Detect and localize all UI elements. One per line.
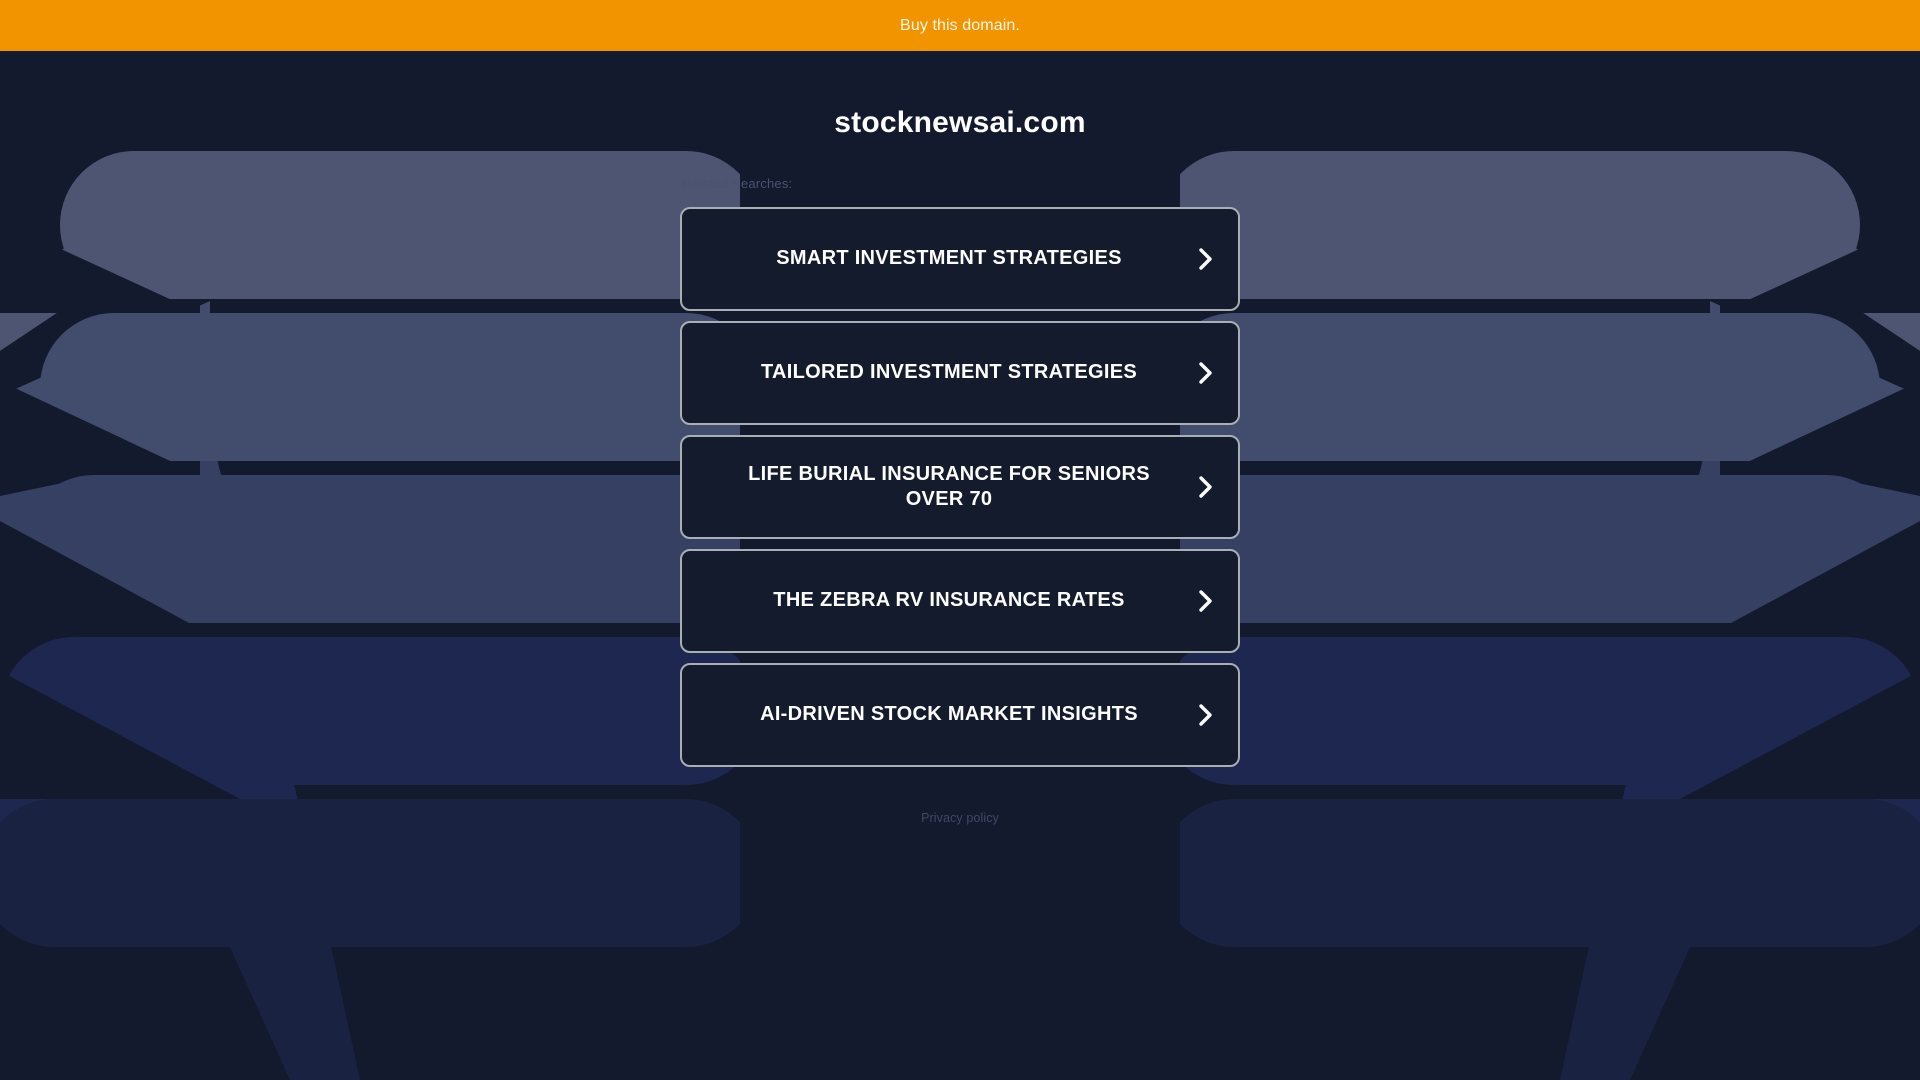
main-content: stocknewsai.com Related Searches: SMART … <box>610 51 1310 825</box>
related-searches-list: SMART INVESTMENT STRATEGIES TAILORED INV… <box>680 207 1240 767</box>
buy-domain-banner[interactable]: Buy this domain. <box>0 0 1920 51</box>
related-search-item-2[interactable]: TAILORED INVESTMENT STRATEGIES <box>680 321 1240 425</box>
related-search-label-4: THE ZEBRA RV INSURANCE RATES <box>773 588 1124 612</box>
buy-domain-banner-label: Buy this domain. <box>900 18 1020 34</box>
related-search-label-2: TAILORED INVESTMENT STRATEGIES <box>761 360 1137 384</box>
related-search-item-5[interactable]: AI-DRIVEN STOCK MARKET INSIGHTS <box>680 663 1240 767</box>
related-searches-label: Related Searches: <box>680 176 1240 191</box>
privacy-policy-link[interactable]: Privacy policy <box>921 811 999 825</box>
related-search-item-4[interactable]: THE ZEBRA RV INSURANCE RATES <box>680 549 1240 653</box>
fan-rays-right <box>1560 151 1920 1080</box>
chevron-right-icon <box>1196 475 1216 499</box>
page-root: Buy this domain. <box>0 0 1920 1080</box>
chevron-right-icon <box>1196 703 1216 727</box>
chevron-right-icon <box>1196 589 1216 613</box>
related-search-label-3: LIFE BURIAL INSURANCE FOR SENIORS OVER 7… <box>720 462 1178 511</box>
fan-rays-left <box>0 151 360 1080</box>
related-search-item-1[interactable]: SMART INVESTMENT STRATEGIES <box>680 207 1240 311</box>
chevron-right-icon <box>1196 247 1216 271</box>
fan-cutouts-left <box>0 91 290 1080</box>
related-search-item-3[interactable]: LIFE BURIAL INSURANCE FOR SENIORS OVER 7… <box>680 435 1240 539</box>
related-search-label-5: AI-DRIVEN STOCK MARKET INSIGHTS <box>760 702 1138 726</box>
footer: Privacy policy <box>610 811 1310 825</box>
domain-title: stocknewsai.com <box>834 106 1085 141</box>
chevron-right-icon <box>1196 361 1216 385</box>
fan-cutouts-right <box>1630 91 1920 1080</box>
related-search-label-1: SMART INVESTMENT STRATEGIES <box>776 246 1122 270</box>
related-searches-section: Related Searches: SMART INVESTMENT STRAT… <box>680 176 1240 767</box>
